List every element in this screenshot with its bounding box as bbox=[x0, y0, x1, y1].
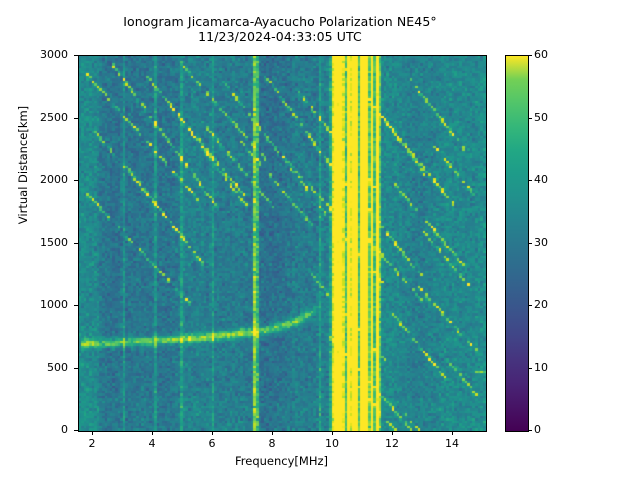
x-ticklabel-2: 6 bbox=[192, 437, 232, 450]
x-tick-6 bbox=[452, 431, 453, 435]
colorbar-tick-3 bbox=[528, 243, 532, 244]
y-ticklabel-0: 0 bbox=[0, 423, 68, 436]
colorbar-ticklabel-4: 40 bbox=[534, 173, 548, 186]
y-ticklabel-1: 500 bbox=[0, 361, 68, 374]
colorbar-ticklabel-3: 30 bbox=[534, 236, 548, 249]
colorbar-tick-1 bbox=[528, 368, 532, 369]
x-tick-3 bbox=[272, 431, 273, 435]
x-ticklabel-5: 12 bbox=[372, 437, 412, 450]
y-tick-0 bbox=[74, 430, 78, 431]
x-axis-label: Frequency[MHz] bbox=[78, 454, 485, 468]
colorbar-tick-0 bbox=[528, 430, 532, 431]
y-ticklabel-6: 3000 bbox=[0, 48, 68, 61]
x-ticklabel-0: 2 bbox=[72, 437, 112, 450]
x-ticklabel-3: 8 bbox=[252, 437, 292, 450]
plot-axes bbox=[78, 55, 487, 432]
ionogram-heatmap bbox=[79, 56, 486, 431]
ionogram-figure: Ionogram Jicamarca-Ayacucho Polarization… bbox=[0, 0, 640, 480]
colorbar-tick-6 bbox=[528, 55, 532, 56]
colorbar-tick-2 bbox=[528, 305, 532, 306]
y-tick-5 bbox=[74, 118, 78, 119]
colorbar-ticklabel-1: 10 bbox=[534, 361, 548, 374]
y-tick-4 bbox=[74, 180, 78, 181]
x-ticklabel-1: 4 bbox=[132, 437, 172, 450]
colorbar-tick-5 bbox=[528, 118, 532, 119]
title-line-1: Ionogram Jicamarca-Ayacucho Polarization… bbox=[0, 14, 560, 29]
y-tick-1 bbox=[74, 368, 78, 369]
x-tick-0 bbox=[92, 431, 93, 435]
y-tick-2 bbox=[74, 305, 78, 306]
colorbar-ticklabel-6: 60 bbox=[534, 48, 548, 61]
y-tick-3 bbox=[74, 243, 78, 244]
x-tick-2 bbox=[212, 431, 213, 435]
x-ticklabel-4: 10 bbox=[312, 437, 352, 450]
y-ticklabel-5: 2500 bbox=[0, 111, 68, 124]
y-ticklabel-2: 1000 bbox=[0, 298, 68, 311]
y-tick-6 bbox=[74, 55, 78, 56]
colorbar-tick-4 bbox=[528, 180, 532, 181]
colorbar-ticklabel-5: 50 bbox=[534, 111, 548, 124]
title-line-2: 11/23/2024-04:33:05 UTC bbox=[0, 29, 560, 44]
page-title: Ionogram Jicamarca-Ayacucho Polarization… bbox=[0, 14, 560, 44]
colorbar-ticklabel-0: 0 bbox=[534, 423, 541, 436]
x-ticklabel-6: 14 bbox=[432, 437, 472, 450]
x-tick-1 bbox=[152, 431, 153, 435]
colorbar bbox=[505, 55, 529, 432]
x-tick-4 bbox=[332, 431, 333, 435]
colorbar-ticklabel-2: 20 bbox=[534, 298, 548, 311]
y-axis-label: Virtual Distance[km] bbox=[16, 80, 30, 250]
y-ticklabel-4: 2000 bbox=[0, 173, 68, 186]
y-ticklabel-3: 1500 bbox=[0, 236, 68, 249]
x-tick-5 bbox=[392, 431, 393, 435]
